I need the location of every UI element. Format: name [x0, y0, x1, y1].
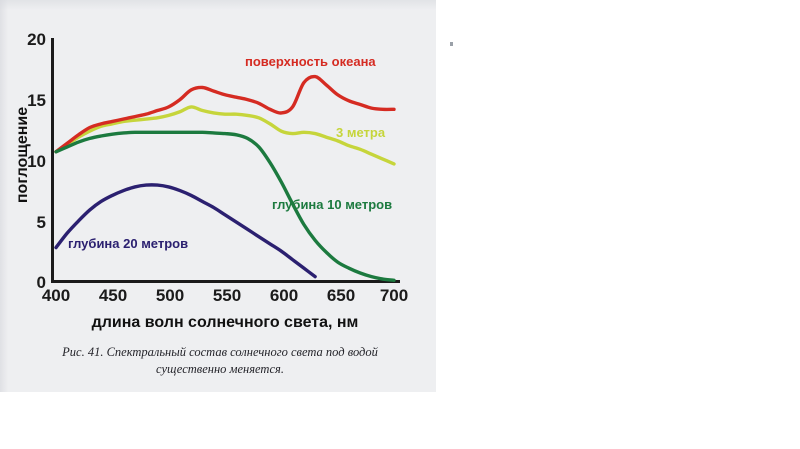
x-tick-label: 700	[380, 286, 408, 305]
figure-caption: Рис. 41. Спектральный состав солнечного …	[14, 344, 426, 378]
y-tick-label: 5	[37, 213, 46, 232]
x-axis-title: длина волн солнечного света, нм	[92, 314, 359, 331]
series-label: поверхность океана	[245, 54, 376, 69]
y-axis-title: поглощение	[14, 107, 31, 203]
caption-line-1: Рис. 41. Спектральный состав солнечного …	[62, 345, 378, 359]
x-tick-label: 400	[42, 286, 70, 305]
series-label: глубина 20 метров	[68, 236, 188, 251]
x-tick-label: 600	[270, 286, 298, 305]
x-tick-label: 450	[99, 286, 127, 305]
x-tick-label: 500	[156, 286, 184, 305]
x-axis-ticks: 400 450 500 550 600 650 700	[42, 286, 408, 305]
absorption-spectrum-chart: 20 15 10 5 0 400 450 500 550 600 650 700…	[0, 0, 436, 340]
series-label: глубина 10 метров	[272, 197, 392, 212]
caption-line-2: существенно меняется.	[156, 362, 284, 376]
figure-panel: 20 15 10 5 0 400 450 500 550 600 650 700…	[0, 0, 436, 392]
series-labels: поверхность океана3 метраглубина 10 метр…	[68, 54, 392, 251]
x-tick-label: 550	[213, 286, 241, 305]
series-label: 3 метра	[336, 125, 386, 140]
scan-speck	[450, 42, 453, 46]
x-tick-label: 650	[327, 286, 355, 305]
y-tick-label: 20	[27, 30, 46, 49]
